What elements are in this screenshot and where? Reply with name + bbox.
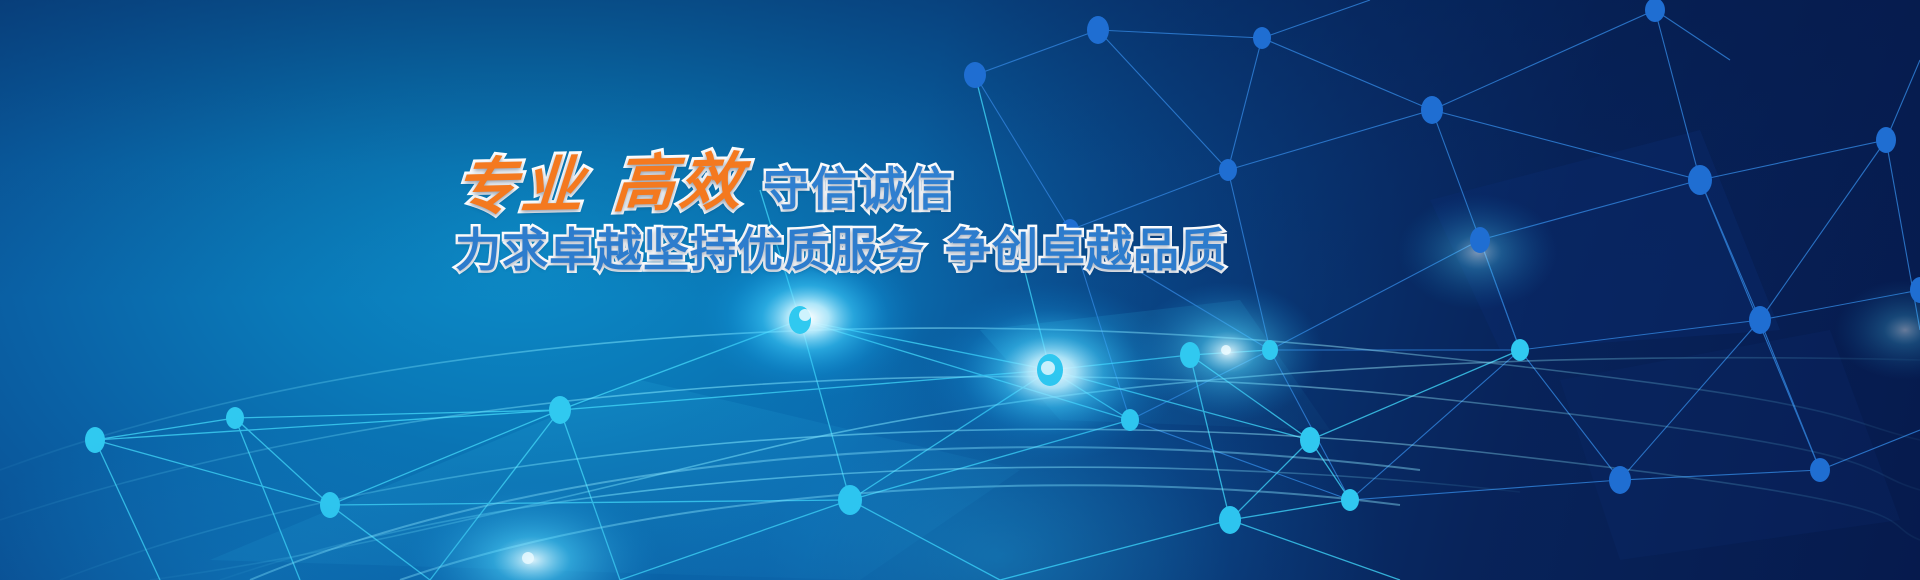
headline-accent-text: 专业高效 [453, 151, 748, 219]
headline-line: 专业高效 守信诚信 [455, 140, 1155, 218]
slogan-text-block: 专业高效 守信诚信 力求卓越坚持优质服务争创卓越品质 [455, 140, 1155, 274]
subheadline-line: 力求卓越坚持优质服务争创卓越品质 [455, 226, 1155, 274]
banner-root: 专业高效 守信诚信 力求卓越坚持优质服务争创卓越品质 [0, 0, 1920, 580]
subheadline-part-one: 力求卓越坚持优质服务 [455, 223, 925, 277]
background-bottom-glow [0, 0, 1920, 580]
headline-plain-text: 守信诚信 [763, 166, 955, 212]
subheadline-part-two: 争创卓越品质 [945, 223, 1227, 277]
